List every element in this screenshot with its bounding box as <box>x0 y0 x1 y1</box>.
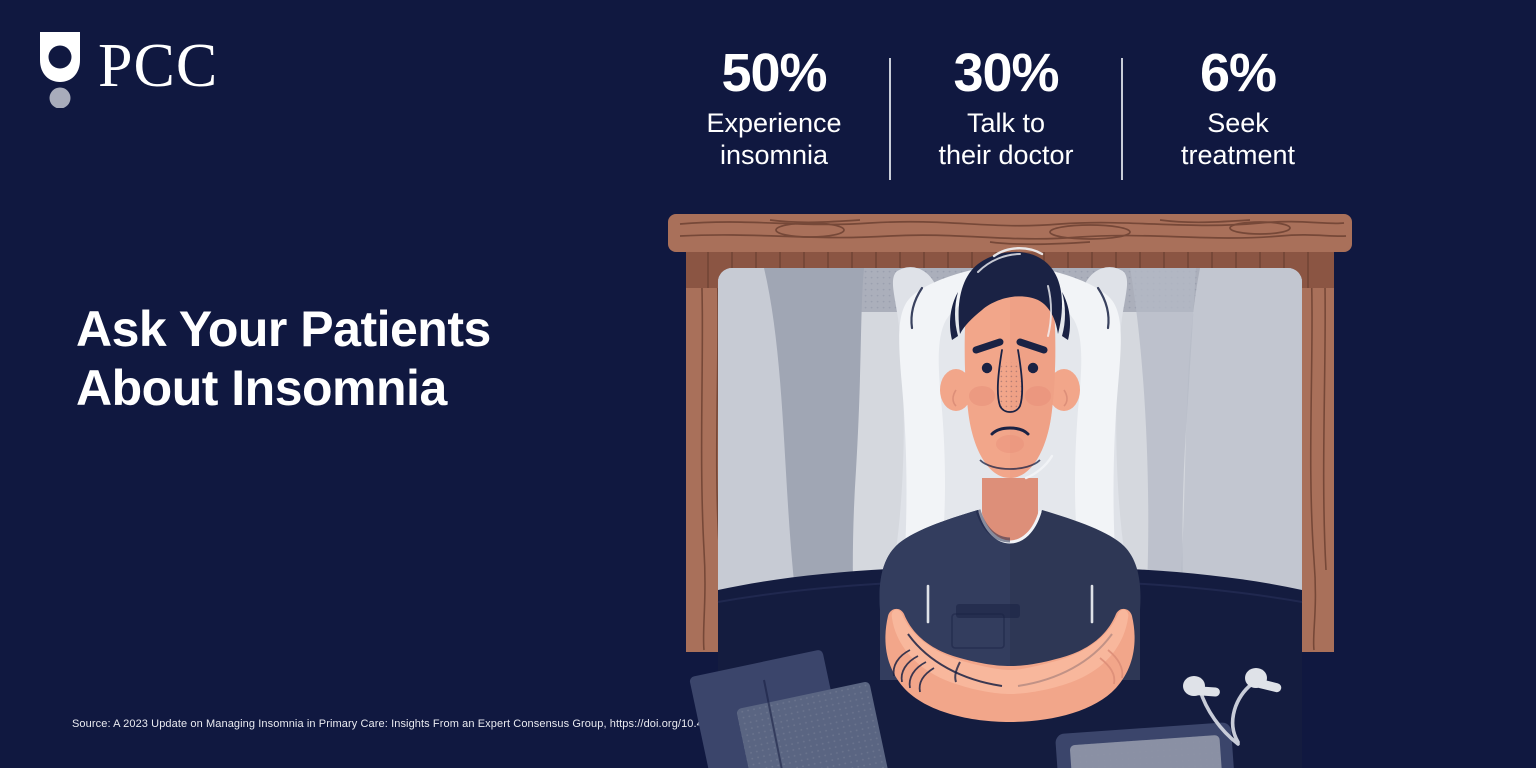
eye-left <box>982 363 992 373</box>
statistics-row: 50% Experience insomnia 30% Talk to thei… <box>676 46 1336 180</box>
stat-value: 50% <box>676 46 872 101</box>
cheek-left <box>969 386 995 406</box>
stat-label: Talk to their doctor <box>908 107 1104 172</box>
stat-value: 30% <box>908 46 1104 101</box>
page-title: Ask Your Patients About Insomnia <box>76 300 636 418</box>
stat-divider-2 <box>1121 58 1123 180</box>
stat-label: Experience insomnia <box>676 107 872 172</box>
stat-item-experience-insomnia: 50% Experience insomnia <box>676 46 872 172</box>
pcc-shield-mark-icon <box>36 30 84 108</box>
bed-scene-svg <box>660 210 1360 768</box>
stat-label: Seek treatment <box>1140 107 1336 172</box>
headboard-top-rail <box>668 214 1352 252</box>
stat-value: 6% <box>1140 46 1336 101</box>
infographic-canvas: PCC 50% Experience insomnia 30% Talk to … <box>0 0 1536 768</box>
stat-item-seek-treatment: 6% Seek treatment <box>1140 46 1336 172</box>
stat-item-talk-to-doctor: 30% Talk to their doctor <box>908 46 1104 172</box>
pcc-logo-wordmark: PCC <box>98 35 218 97</box>
pcc-logo: PCC <box>36 30 218 108</box>
eye-right <box>1028 363 1038 373</box>
cheek-right <box>1025 386 1051 406</box>
stat-divider-1 <box>889 58 891 180</box>
man-awake-in-bed-illustration <box>660 210 1360 768</box>
